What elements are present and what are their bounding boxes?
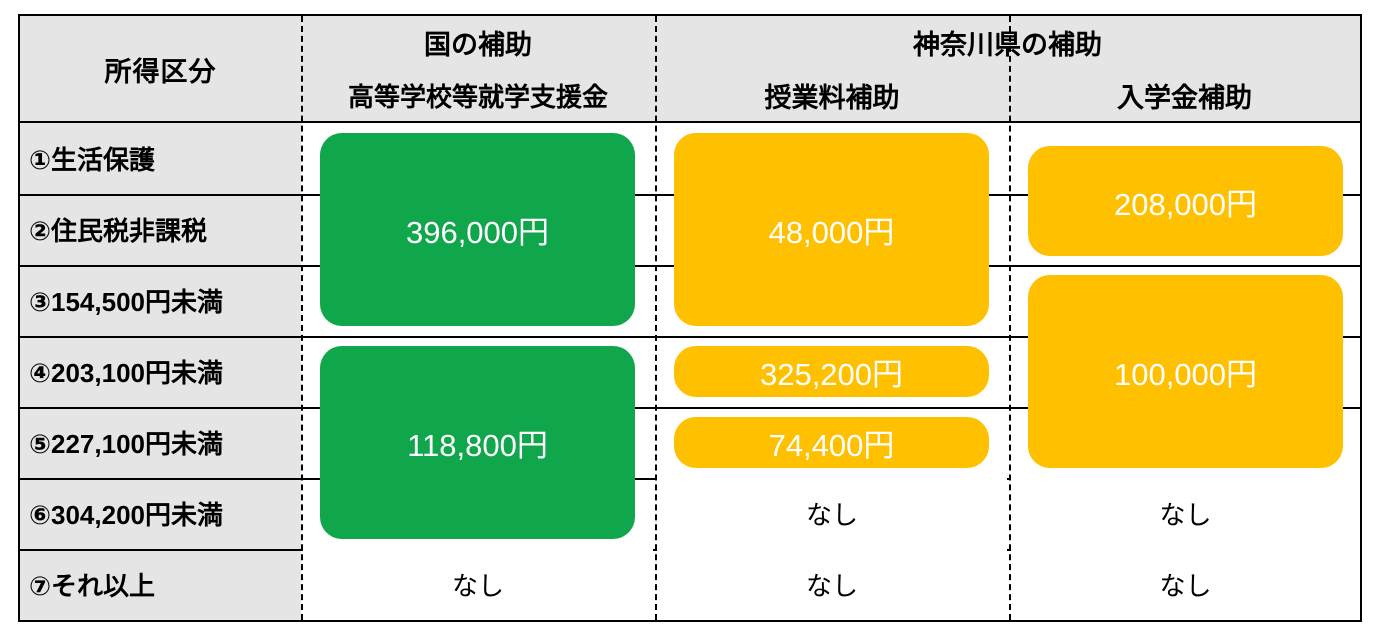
table-row: ⑦それ以上 — [20, 549, 301, 620]
table-row: ③154,500円未満 — [20, 265, 301, 336]
cell-entrance-none-row6: なし — [1011, 478, 1360, 549]
cell-national-118800: 118,800円 — [320, 346, 635, 539]
header-group-kanagawa: 神奈川県の補助 — [655, 16, 1360, 68]
table-header: 所得区分 国の補助 神奈川県の補助 高等学校等就学支援金 授業料補助 入学金補助 — [20, 16, 1360, 123]
cell-tuition-74400: 74,400円 — [674, 417, 989, 468]
cell-tuition-325200: 325,200円 — [674, 346, 989, 397]
table-row: ⑥304,200円未満 — [20, 478, 301, 549]
column-divider — [1009, 16, 1011, 620]
column-divider — [655, 16, 657, 620]
column-divider — [301, 16, 303, 620]
subsidy-table: 所得区分 国の補助 神奈川県の補助 高等学校等就学支援金 授業料補助 入学金補助… — [18, 14, 1362, 622]
cell-national-none-row7: なし — [303, 549, 653, 620]
header-group-national: 国の補助 — [301, 16, 655, 68]
header-sub-tuition-subsidy: 授業料補助 — [655, 68, 1009, 123]
cell-tuition-48000: 48,000円 — [674, 133, 989, 326]
header-sub-tuition-support: 高等学校等就学支援金 — [301, 68, 655, 123]
cell-entrance-100000: 100,000円 — [1028, 275, 1343, 468]
header-income-category: 所得区分 — [20, 16, 301, 123]
table-row: ④203,100円未満 — [20, 336, 301, 407]
cell-tuition-none-row7: なし — [657, 549, 1007, 620]
table-row: ⑤227,100円未満 — [20, 407, 301, 478]
header-sub-entrance-fee-subsidy: 入学金補助 — [1009, 68, 1360, 123]
table-row: ②住民税非課税 — [20, 194, 301, 265]
cell-entrance-208000: 208,000円 — [1028, 146, 1343, 256]
cell-tuition-none-row6: なし — [657, 478, 1007, 549]
cell-national-396000: 396,000円 — [320, 133, 635, 326]
table-body: ①生活保護 ②住民税非課税 ③154,500円未満 ④203,100円未満 ⑤2… — [20, 123, 1360, 620]
cell-entrance-none-row7: なし — [1011, 549, 1360, 620]
table-row: ①生活保護 — [20, 123, 301, 194]
